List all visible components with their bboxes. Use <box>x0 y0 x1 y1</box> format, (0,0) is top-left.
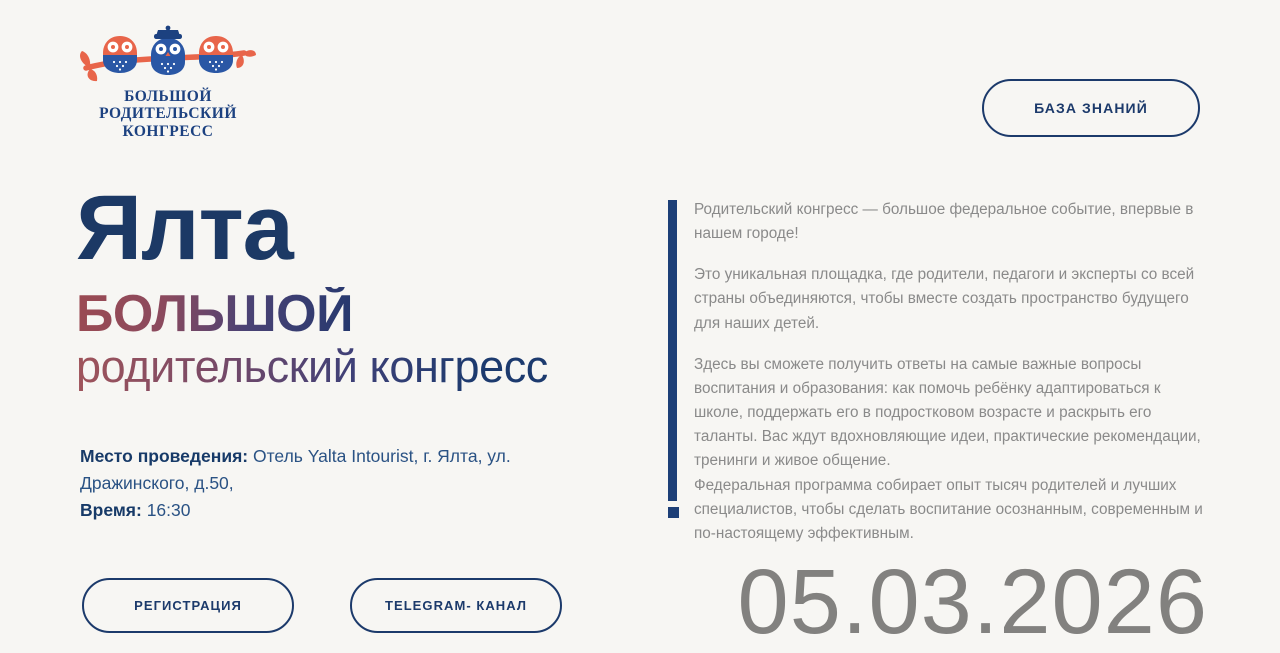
event-date: 05.03.2026 <box>738 556 1208 648</box>
logo-line-1: БОЛЬШОЙ <box>78 88 258 105</box>
landing-page: БОЛЬШОЙ РОДИТЕЛЬСКИЙ КОНГРЕСС БАЗА ЗНАНИ… <box>0 0 1280 650</box>
description-paragraph-2: Это уникальная площадка, где родители, п… <box>694 263 1208 335</box>
description-paragraph-1: Родительский конгресс — большое федераль… <box>694 198 1208 246</box>
description-paragraph-3: Здесь вы сможете получить ответы на самы… <box>694 353 1208 474</box>
venue-info: Место проведения: Отель Yalta Intourist,… <box>80 443 600 524</box>
logo-line-2: РОДИТЕЛЬСКИЙ <box>78 105 258 122</box>
venue-place-row: Место проведения: Отель Yalta Intourist,… <box>80 443 600 496</box>
venue-time-row: Время: 16:30 <box>80 497 600 524</box>
logo-mark <box>78 22 258 90</box>
page-title-sub: родительский конгресс <box>76 343 548 391</box>
logo-line-3: КОНГРЕСС <box>78 123 258 140</box>
description-text: Родительский конгресс — большое федераль… <box>694 198 1208 546</box>
accent-bar <box>668 200 677 501</box>
cta-button-row: РЕГИСТРАЦИЯ TELEGRAM- КАНАЛ <box>82 578 562 633</box>
accent-square <box>668 507 679 518</box>
page-title-city: Ялта <box>76 186 646 271</box>
telegram-channel-button[interactable]: TELEGRAM- КАНАЛ <box>350 578 562 633</box>
venue-time-label: Время: <box>80 500 142 520</box>
description-paragraph-4: Федеральная программа собирает опыт тыся… <box>694 474 1208 546</box>
page-title-big: БОЛЬШОЙ <box>76 287 353 342</box>
owls-branch-icon <box>78 22 258 90</box>
venue-time-value: 16:30 <box>147 500 191 520</box>
owl-middle-graduate <box>151 26 185 75</box>
knowledge-base-button[interactable]: БАЗА ЗНАНИЙ <box>982 79 1200 137</box>
hero-block: Ялта БОЛЬШОЙ родительский конгресс <box>76 186 646 391</box>
logo-wordmark: БОЛЬШОЙ РОДИТЕЛЬСКИЙ КОНГРЕСС <box>78 88 258 140</box>
venue-place-label: Место проведения: <box>80 446 248 466</box>
owl-left <box>103 36 137 73</box>
description-block: Родительский конгресс — большое федераль… <box>668 198 1208 546</box>
owl-right <box>199 36 233 73</box>
site-logo[interactable]: БОЛЬШОЙ РОДИТЕЛЬСКИЙ КОНГРЕСС <box>78 22 258 147</box>
registration-button[interactable]: РЕГИСТРАЦИЯ <box>82 578 294 633</box>
